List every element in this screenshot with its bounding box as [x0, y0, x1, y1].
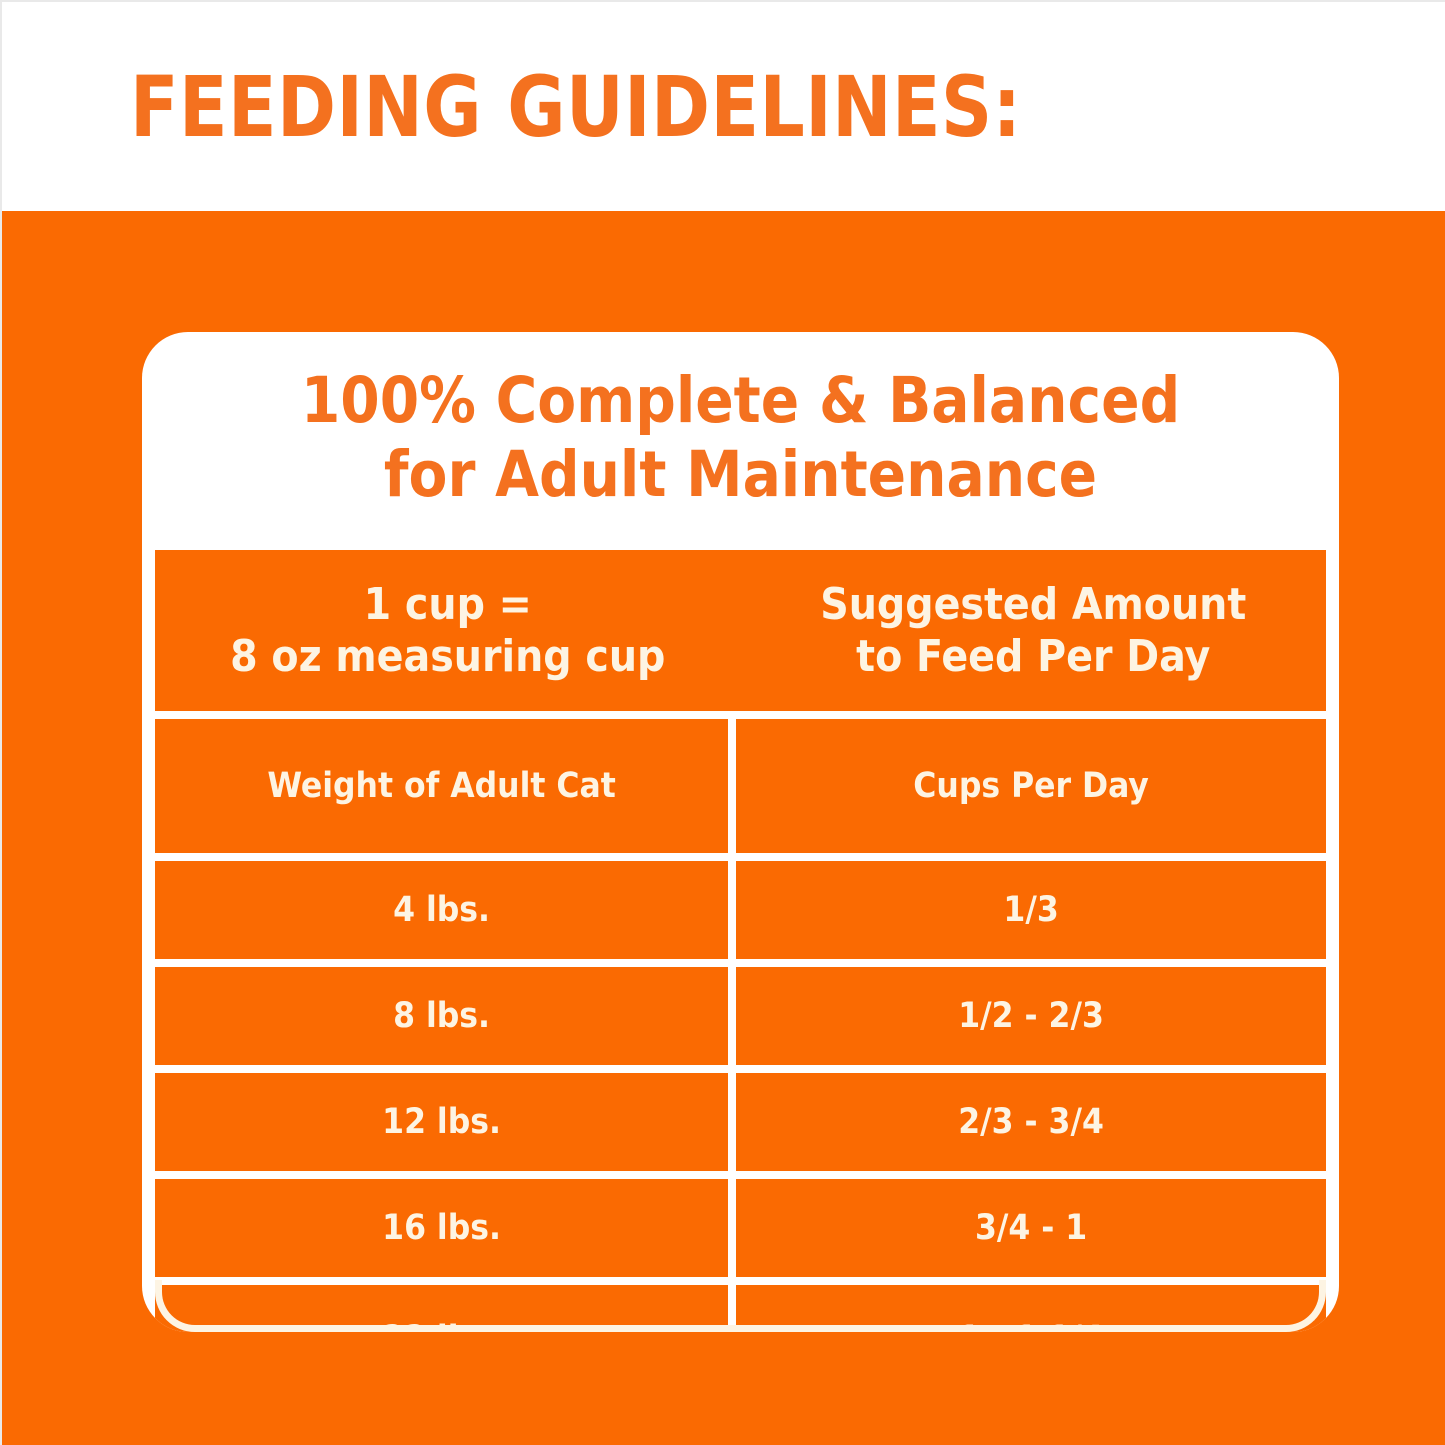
banner-measure-line-1: 1 cup = [230, 579, 665, 630]
cell-cups: 3/4 - 1 [736, 1179, 1326, 1277]
cell-weight: 12 lbs. [155, 1073, 728, 1171]
card-heading: 100% Complete & Balanced for Adult Maint… [142, 364, 1339, 513]
table-header-row: Weight of Adult Cat Cups Per Day [142, 719, 1339, 853]
banner-suggested-line-2: to Feed Per Day [820, 631, 1246, 682]
feeding-guidelines-page: FEEDING GUIDELINES: 100% Complete & Bala… [0, 0, 1445, 1445]
table-row: 16 lbs. 3/4 - 1 [142, 1179, 1339, 1277]
column-header-cups: Cups Per Day [736, 719, 1326, 853]
column-divider [728, 1179, 736, 1277]
banner-measure-line-2: 8 oz measuring cup [230, 631, 665, 682]
column-divider [728, 967, 736, 1065]
feeding-table: 1 cup = 8 oz measuring cup Suggested Amo… [142, 550, 1339, 1332]
column-header-weight: Weight of Adult Cat [155, 719, 728, 853]
cell-cups: 1/2 - 2/3 [736, 967, 1326, 1065]
banner-cell-suggested: Suggested Amount to Feed Per Day [741, 550, 1327, 711]
column-divider [728, 861, 736, 959]
card-heading-line-1: 100% Complete & Balanced [142, 364, 1339, 438]
card-heading-line-2: for Adult Maintenance [142, 438, 1339, 512]
column-divider [728, 1285, 736, 1332]
cell-cups: 2/3 - 3/4 [736, 1073, 1326, 1171]
cell-weight: 8 lbs. [155, 967, 728, 1065]
column-divider [728, 1073, 736, 1171]
table-row: 4 lbs. 1/3 [142, 861, 1339, 959]
cell-weight: 16 lbs. [155, 1179, 728, 1277]
cell-cups: 1 - 1 1/4 [736, 1285, 1326, 1332]
guidelines-card: 100% Complete & Balanced for Adult Maint… [142, 332, 1339, 1332]
page-title: FEEDING GUIDELINES: [130, 65, 1022, 149]
banner-cell-measure: 1 cup = 8 oz measuring cup [155, 550, 741, 711]
table-banner-row: 1 cup = 8 oz measuring cup Suggested Amo… [142, 550, 1339, 711]
cell-cups: 1/3 [736, 861, 1326, 959]
table-row: 8 lbs. 1/2 - 2/3 [142, 967, 1339, 1065]
column-divider [728, 719, 736, 853]
banner-suggested-line-1: Suggested Amount [820, 579, 1246, 630]
table-row: 22 lbs. 1 - 1 1/4 [142, 1285, 1339, 1332]
table-row: 12 lbs. 2/3 - 3/4 [142, 1073, 1339, 1171]
cell-weight: 22 lbs. [155, 1285, 728, 1332]
title-band: FEEDING GUIDELINES: [2, 2, 1445, 211]
cell-weight: 4 lbs. [155, 861, 728, 959]
